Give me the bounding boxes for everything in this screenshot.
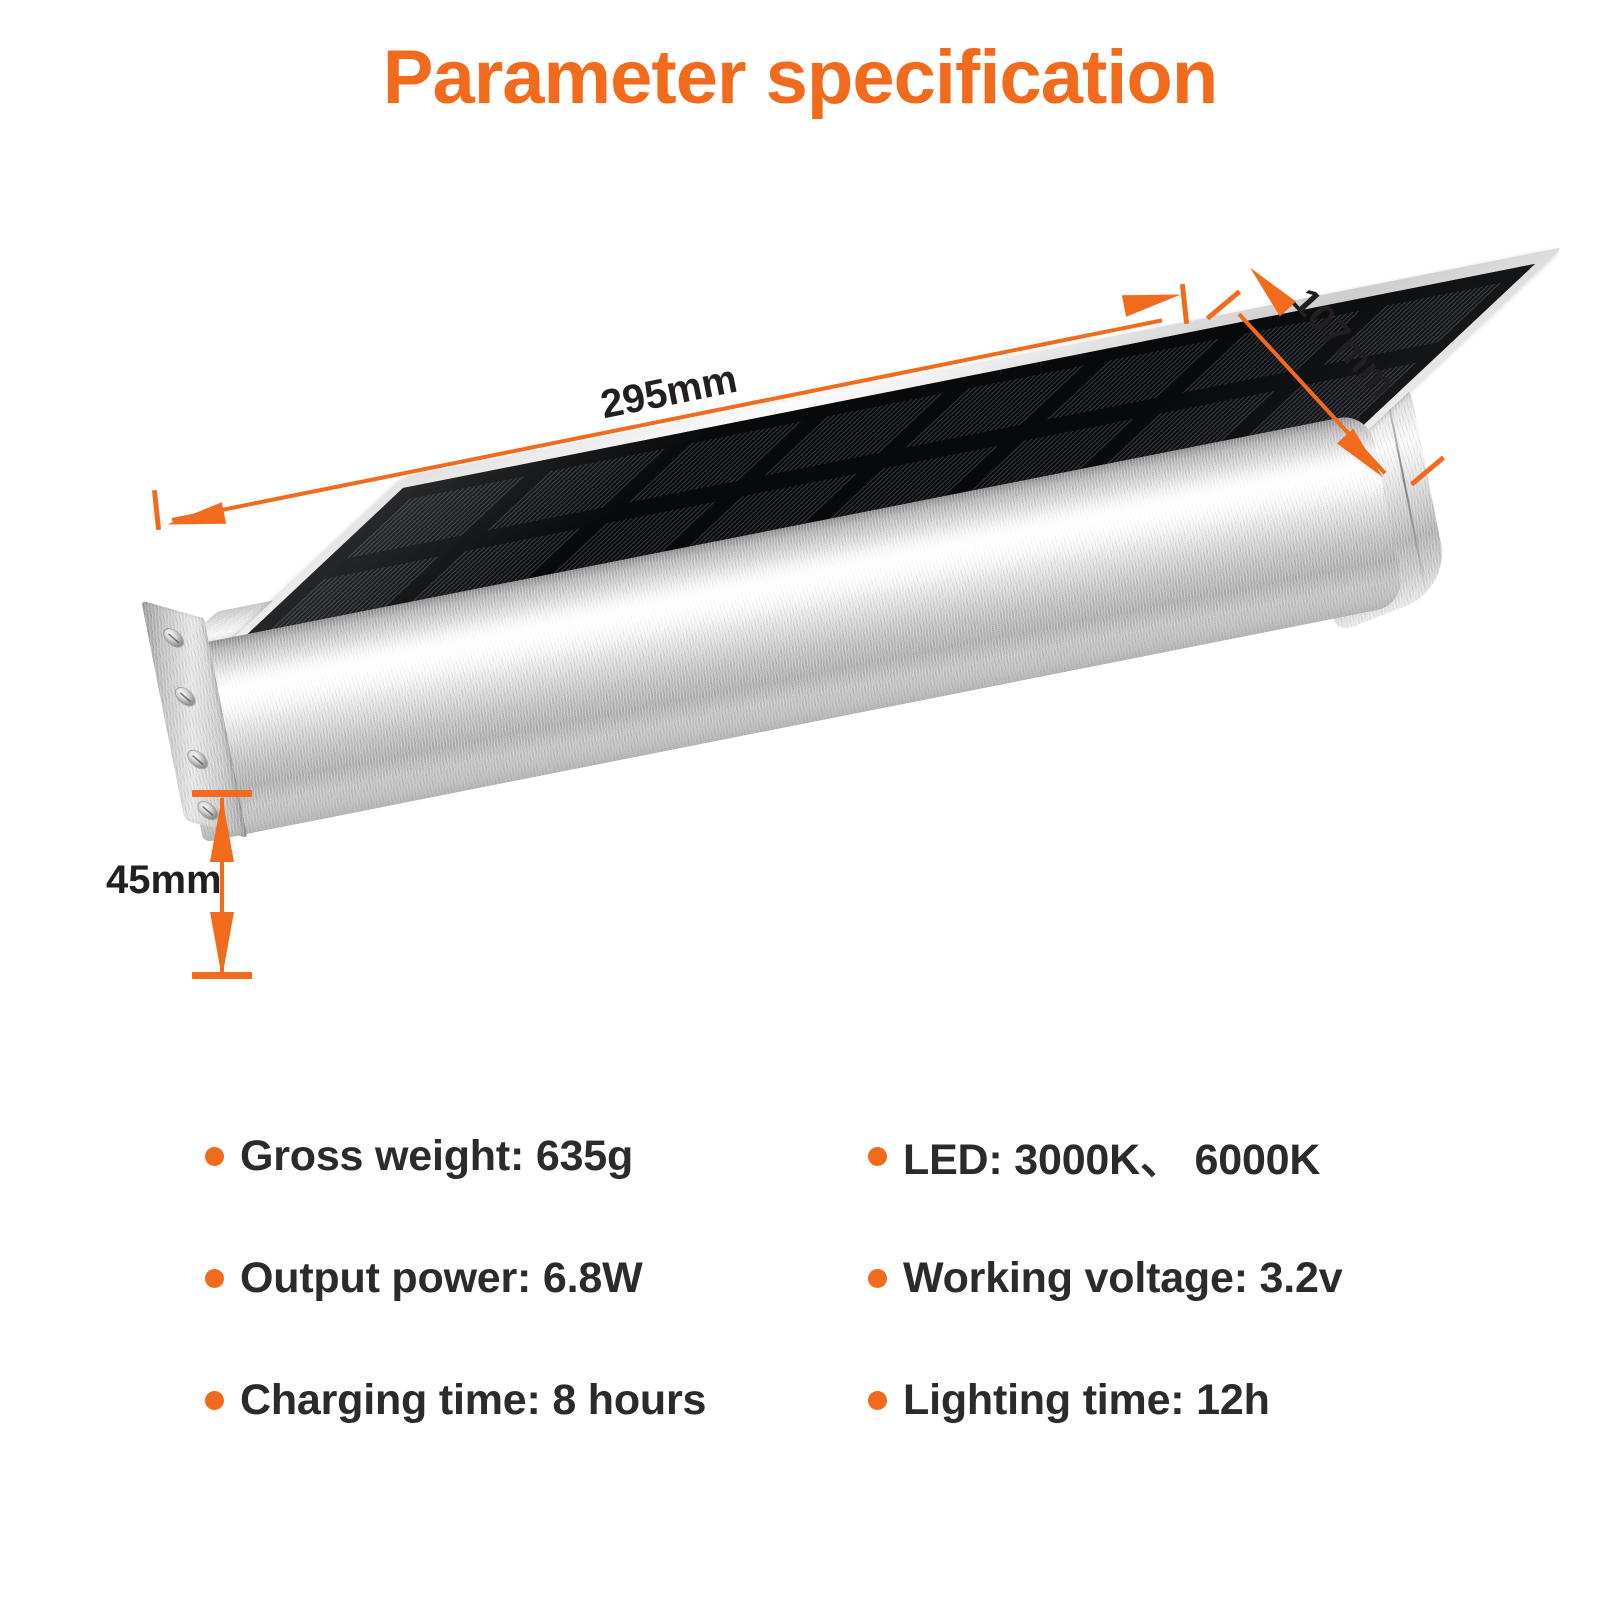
arrow-head-down-45mm (210, 912, 234, 978)
body-bottom-shadow (198, 579, 1406, 843)
bullet-icon (205, 1269, 224, 1288)
bullet-icon (868, 1147, 887, 1166)
spec-column-left: Gross weight: 635g Output power: 6.8W Ch… (205, 1095, 845, 1461)
bullet-icon (205, 1391, 224, 1410)
screw-icon (174, 686, 196, 708)
spec-label: LED: 3000K、 6000K (903, 1125, 1320, 1187)
product-illustration: 295mm 107mm 45mm (0, 250, 1600, 1040)
spec-label: Output power: 6.8W (240, 1254, 643, 1303)
spec-item-charging-time: Charging time: 8 hours (205, 1339, 845, 1461)
spec-label: Lighting time: 12h (903, 1376, 1270, 1425)
page-title: Parameter specification (0, 34, 1600, 121)
spec-label: Gross weight: 635g (240, 1132, 633, 1181)
spec-item-gross-weight: Gross weight: 635g (205, 1095, 845, 1217)
spec-item-working-voltage: Working voltage: 3.2v (868, 1217, 1568, 1339)
spec-column-right: LED: 3000K、 6000K Working voltage: 3.2v … (868, 1095, 1568, 1461)
solar-wall-light-product (128, 280, 1418, 847)
screw-icon (163, 627, 185, 649)
specification-list: Gross weight: 635g Output power: 6.8W Ch… (0, 1095, 1600, 1455)
spec-item-led: LED: 3000K、 6000K (868, 1095, 1568, 1217)
spec-label: Charging time: 8 hours (240, 1376, 706, 1425)
arrow-head-right-295mm (1122, 284, 1183, 317)
bullet-icon (868, 1269, 887, 1288)
dimension-tick-bottom-45mm (192, 972, 252, 979)
bullet-icon (868, 1391, 887, 1410)
dimension-tick-top-45mm (192, 790, 252, 797)
spec-item-lighting-time: Lighting time: 12h (868, 1339, 1568, 1461)
spec-item-output-power: Output power: 6.8W (205, 1217, 845, 1339)
screw-icon (187, 749, 209, 771)
arrow-head-up-45mm (210, 796, 234, 862)
spec-label: Working voltage: 3.2v (903, 1254, 1342, 1303)
dimension-label-45mm: 45mm (106, 858, 222, 903)
bullet-icon (205, 1147, 224, 1166)
